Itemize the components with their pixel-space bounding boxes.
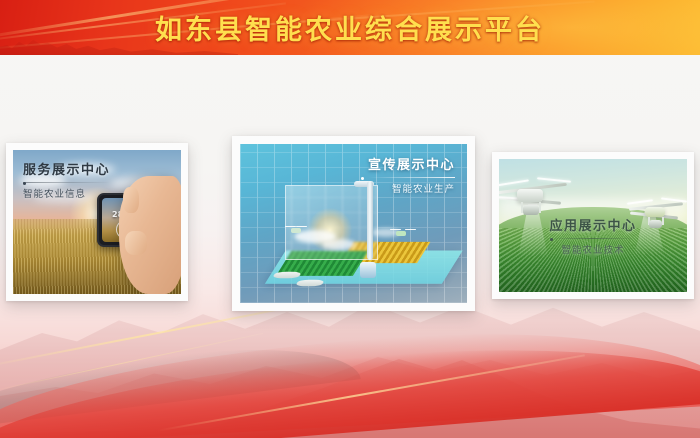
drone-rotor — [405, 229, 416, 231]
drone-body — [291, 228, 301, 233]
iso-hay-roll — [295, 279, 325, 286]
finger-shape — [123, 187, 139, 213]
card-application-dot — [550, 238, 553, 241]
card-service-subtitle: 智能农业信息 — [23, 186, 110, 200]
card-promotion-subtitle: 智能农业生产 — [368, 181, 455, 195]
card-application-separator — [550, 238, 636, 239]
card-promotion-display-center[interactable]: 宣传展示中心 智能农业生产 — [232, 136, 475, 311]
card-application-title: 应用展示中心 — [499, 215, 687, 234]
card-service-image: 28° 服务展示中心 智能农业信息 — [13, 150, 181, 294]
card-promotion-title: 宣传展示中心 — [368, 154, 455, 173]
card-promotion-separator — [368, 177, 455, 178]
card-service-text-block: 服务展示中心 智能农业信息 — [23, 159, 110, 200]
card-promotion-dot — [361, 177, 364, 180]
drone-icon — [390, 227, 416, 238]
card-service-dot — [23, 182, 26, 185]
drone-body — [517, 189, 543, 202]
card-promotion-image: 宣传展示中心 智能农业生产 — [240, 144, 467, 303]
iso-water-tank — [360, 262, 376, 278]
drone-rotor — [627, 199, 653, 205]
card-application-display-center[interactable]: 应用展示中心 智能农业技术 — [492, 152, 694, 299]
card-application-subtitle: 智能农业技术 — [499, 242, 687, 256]
drone-rotor — [537, 177, 571, 183]
drone-rotor — [296, 226, 307, 228]
card-service-display-center[interactable]: 28° 服务展示中心 智能农业信息 — [6, 143, 188, 301]
finger-shape — [125, 231, 147, 255]
drone-rotor — [499, 179, 529, 187]
card-application-image: 应用展示中心 智能农业技术 — [499, 159, 687, 292]
card-application-text-block: 应用展示中心 智能农业技术 — [499, 215, 687, 256]
drone-icon — [285, 224, 307, 233]
drone-tank — [523, 205, 539, 215]
card-service-separator — [23, 182, 110, 183]
page-title: 如东县智能农业综合展示平台 — [0, 0, 700, 55]
header-banner: 如东县智能农业综合展示平台 — [0, 0, 700, 55]
drone-leg — [539, 202, 541, 213]
app-stage: 如东县智能农业综合展示平台 28° — [0, 0, 700, 438]
card-service-title: 服务展示中心 — [23, 159, 110, 178]
drone-body — [396, 231, 406, 236]
drone-rotor — [285, 226, 296, 228]
card-promotion-text-block: 宣传展示中心 智能农业生产 — [368, 154, 455, 195]
